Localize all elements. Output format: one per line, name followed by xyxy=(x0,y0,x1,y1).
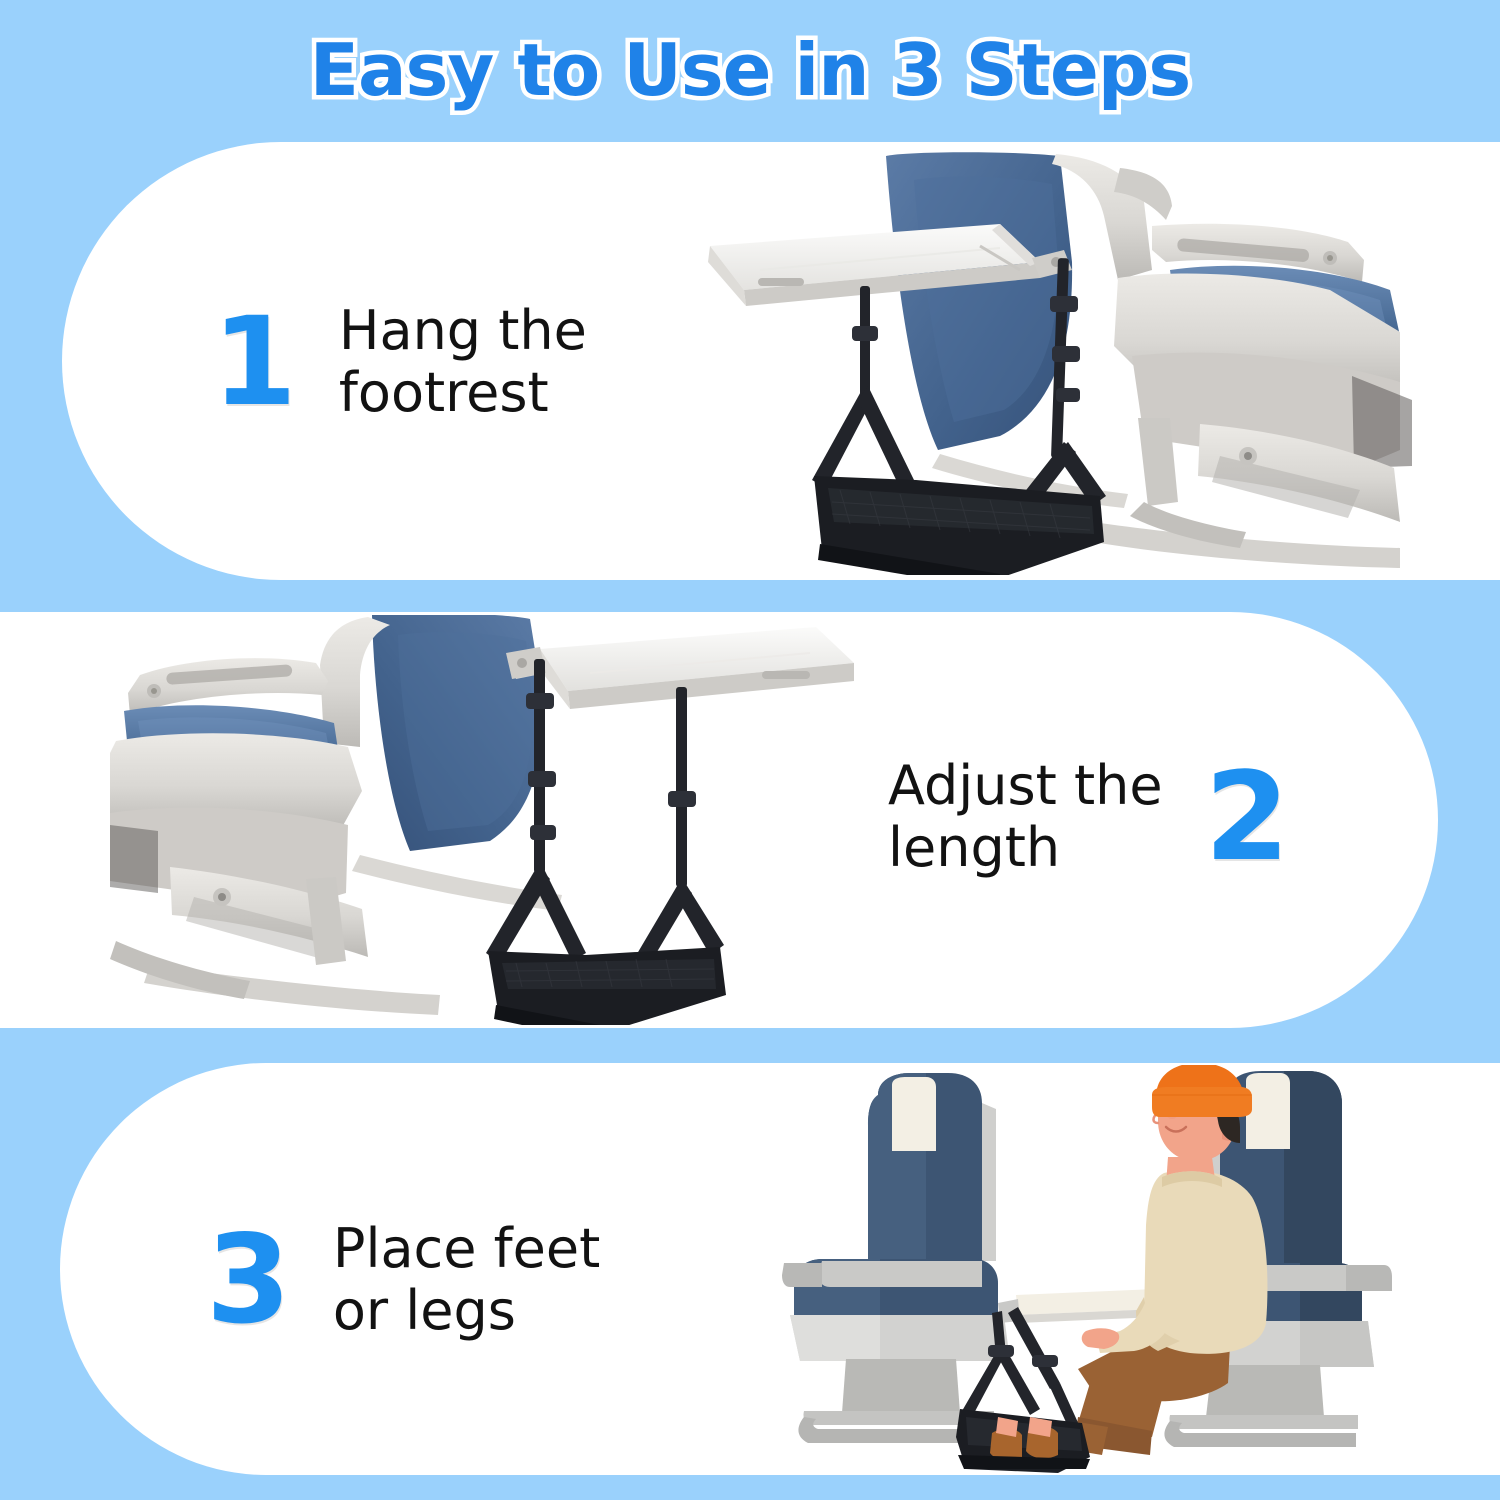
step-1-caption: 1 Hang the footrest xyxy=(212,300,587,423)
step-2-label: Adjust the length xyxy=(888,755,1163,878)
step-2-caption: Adjust the length 2 xyxy=(888,755,1289,878)
step-1-label: Hang the footrest xyxy=(339,300,587,423)
header-bar: Easy to Use in 3 Steps xyxy=(0,0,1500,140)
page-title: Easy to Use in 3 Steps xyxy=(310,28,1190,112)
step-3-label: Place feet or legs xyxy=(333,1218,600,1341)
step-3-illustration xyxy=(760,1065,1440,1473)
step-2-illustration xyxy=(110,615,870,1025)
step-1-illustration xyxy=(700,150,1420,575)
step-3-caption: 3 Place feet or legs xyxy=(206,1218,600,1341)
step-1-number: 1 xyxy=(212,301,297,423)
step-3-number: 3 xyxy=(206,1219,291,1341)
step-2-number: 2 xyxy=(1205,756,1290,878)
